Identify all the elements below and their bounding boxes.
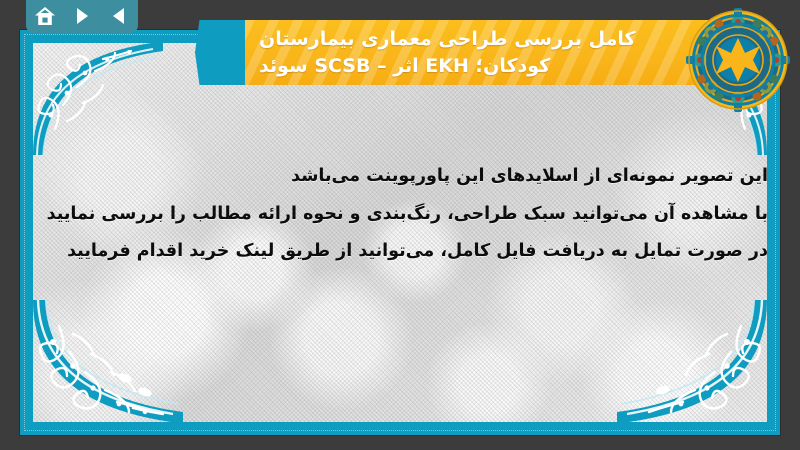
home-icon — [34, 6, 56, 27]
slide-body-text: این تصویر نمونه‌ای از اسلایدهای این پاور… — [65, 158, 780, 271]
body-line-1: این تصویر نمونه‌ای از اسلایدهای این پاور… — [65, 158, 768, 196]
slide-title: کامل بررسی طراحی معماری بیمارستان کودکان… — [253, 20, 723, 85]
back-button[interactable] — [105, 3, 133, 29]
banner-arrow-shape — [195, 20, 251, 85]
persian-medallion-ornament — [686, 8, 790, 112]
triangle-left-icon — [110, 6, 128, 26]
body-line-2: با مشاهده آن می‌توانید سبک طراحی، رنگ‌بن… — [65, 196, 768, 234]
forward-button[interactable] — [68, 3, 96, 29]
screenshot-root: این تصویر نمونه‌ای از اسلایدهای این پاور… — [0, 0, 800, 450]
navigation-bar — [26, 0, 138, 34]
home-button[interactable] — [31, 3, 59, 29]
slide-title-banner: کامل بررسی طراحی معماری بیمارستان کودکان… — [195, 0, 740, 92]
triangle-right-icon — [73, 6, 91, 26]
body-line-3: در صورت تمایل به دریافت فایل کامل، می‌تو… — [65, 233, 768, 271]
title-line-2: کودکان؛ EKH اثر – SCSB سوئد — [259, 53, 550, 80]
title-line-1: کامل بررسی طراحی معماری بیمارستان — [259, 26, 636, 53]
